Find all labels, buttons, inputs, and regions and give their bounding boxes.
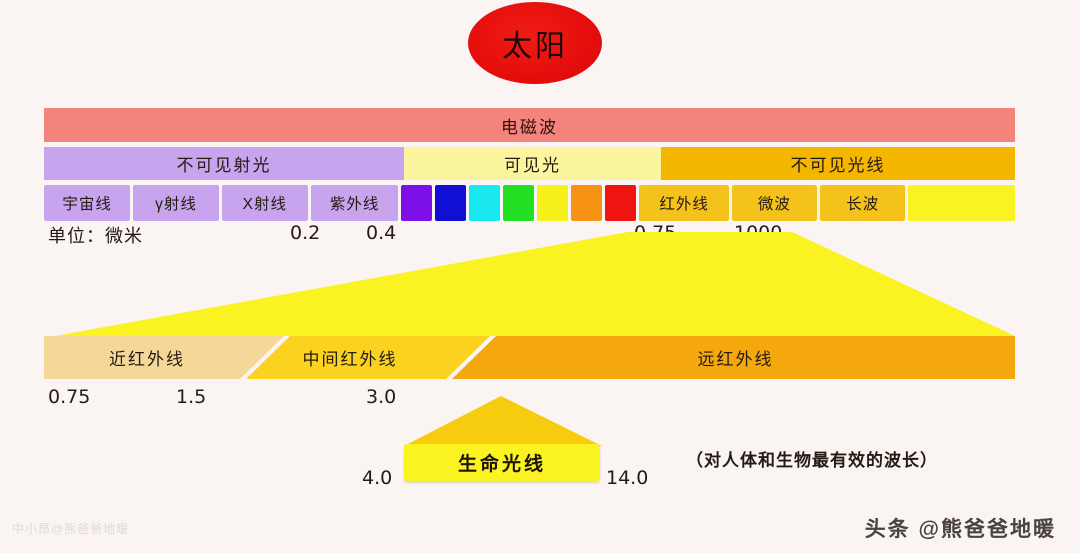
expansion-funnel [0, 232, 1080, 342]
infrared-segment-far-label: 远红外线 [698, 345, 774, 370]
band-invisible-left: 不可见射光 [44, 147, 404, 180]
band-invisible-right-label: 不可见光线 [791, 151, 886, 176]
color-swatch-yellow [537, 185, 568, 221]
spectrum-cell-cosmic-label: 宇宙线 [62, 192, 112, 214]
infrared-segment-near-label: 近红外线 [109, 345, 185, 370]
spectrum-cell-microwave: 微波 [732, 185, 817, 221]
color-swatch-violet [401, 185, 432, 221]
spectrum-cell-gamma: γ射线 [133, 185, 218, 221]
funnel-shape [0, 232, 1080, 342]
spectrum-cell-ultraviolet-label: 紫外线 [330, 192, 380, 214]
spectrum-cell-longwave-label: 长波 [846, 192, 879, 214]
ir-tick-3-0: 3.0 [366, 386, 396, 408]
infrared-segment-far: 远红外线 [456, 336, 1015, 379]
infrared-segment-middle: 中间红外线 [250, 336, 450, 379]
life-ray-triangle [398, 396, 608, 448]
color-swatch-red [605, 185, 636, 221]
sun-label: 太阳 [502, 21, 568, 65]
infrared-breakdown-bar: 近红外线 中间红外线 远红外线 [44, 336, 1015, 379]
ir-tick-1-5: 1.5 [176, 386, 206, 408]
spectrum-cell-ultraviolet: 紫外线 [311, 185, 398, 221]
spectrum-cell-infrared: 红外线 [639, 185, 728, 221]
infrared-segment-near: 近红外线 [44, 336, 250, 379]
life-tick-4-0: 4.0 [362, 467, 392, 489]
electromagnetic-wave-label: 电磁波 [501, 113, 558, 138]
spectrum-cell-cosmic: 宇宙线 [44, 185, 130, 221]
spectrum-cell-trailing [908, 185, 1015, 221]
life-ray-box: 生命光线 [404, 444, 600, 481]
spectrum-cell-row: 宇宙线 γ射线 X射线 紫外线 红外线 微波 长波 [44, 185, 1015, 221]
life-tick-14-0: 14.0 [606, 467, 648, 489]
color-swatch-blue [435, 185, 466, 221]
watermark-faint: 中小昂@熊爸爸地暖 [12, 520, 129, 537]
color-swatch-green [503, 185, 534, 221]
color-swatch-orange [571, 185, 602, 221]
watermark-main: 头条 @熊爸爸地暖 [865, 513, 1056, 543]
ir-tick-0-75: 0.75 [48, 386, 90, 408]
sun-ellipse: 太阳 [468, 2, 602, 84]
band-invisible-right: 不可见光线 [661, 147, 1015, 180]
spectrum-cell-xray-label: X射线 [243, 192, 287, 214]
band-invisible-left-label: 不可见射光 [177, 151, 272, 176]
spectrum-cell-gamma-label: γ射线 [155, 192, 197, 214]
band-visible: 可见光 [404, 147, 661, 180]
spectrum-cell-infrared-label: 红外线 [659, 192, 709, 214]
spectrum-cell-longwave: 长波 [820, 185, 905, 221]
band-visible-label: 可见光 [504, 151, 561, 176]
infrared-segment-middle-label: 中间红外线 [303, 345, 398, 370]
electromagnetic-wave-bar: 电磁波 [44, 108, 1015, 142]
infographic-canvas: 太阳 电磁波 不可见射光 可见光 不可见光线 宇宙线 γ射线 X射线 紫外线 [0, 0, 1080, 553]
life-ray-triangle-shape [398, 396, 608, 448]
spectrum-cell-xray: X射线 [222, 185, 308, 221]
color-swatch-cyan [469, 185, 500, 221]
effective-wavelength-note: （对人体和生物最有效的波长） [686, 446, 938, 471]
spectrum-cell-microwave-label: 微波 [758, 192, 791, 214]
life-ray-label: 生命光线 [458, 449, 546, 476]
band-row: 不可见射光 可见光 不可见光线 [44, 147, 1015, 180]
